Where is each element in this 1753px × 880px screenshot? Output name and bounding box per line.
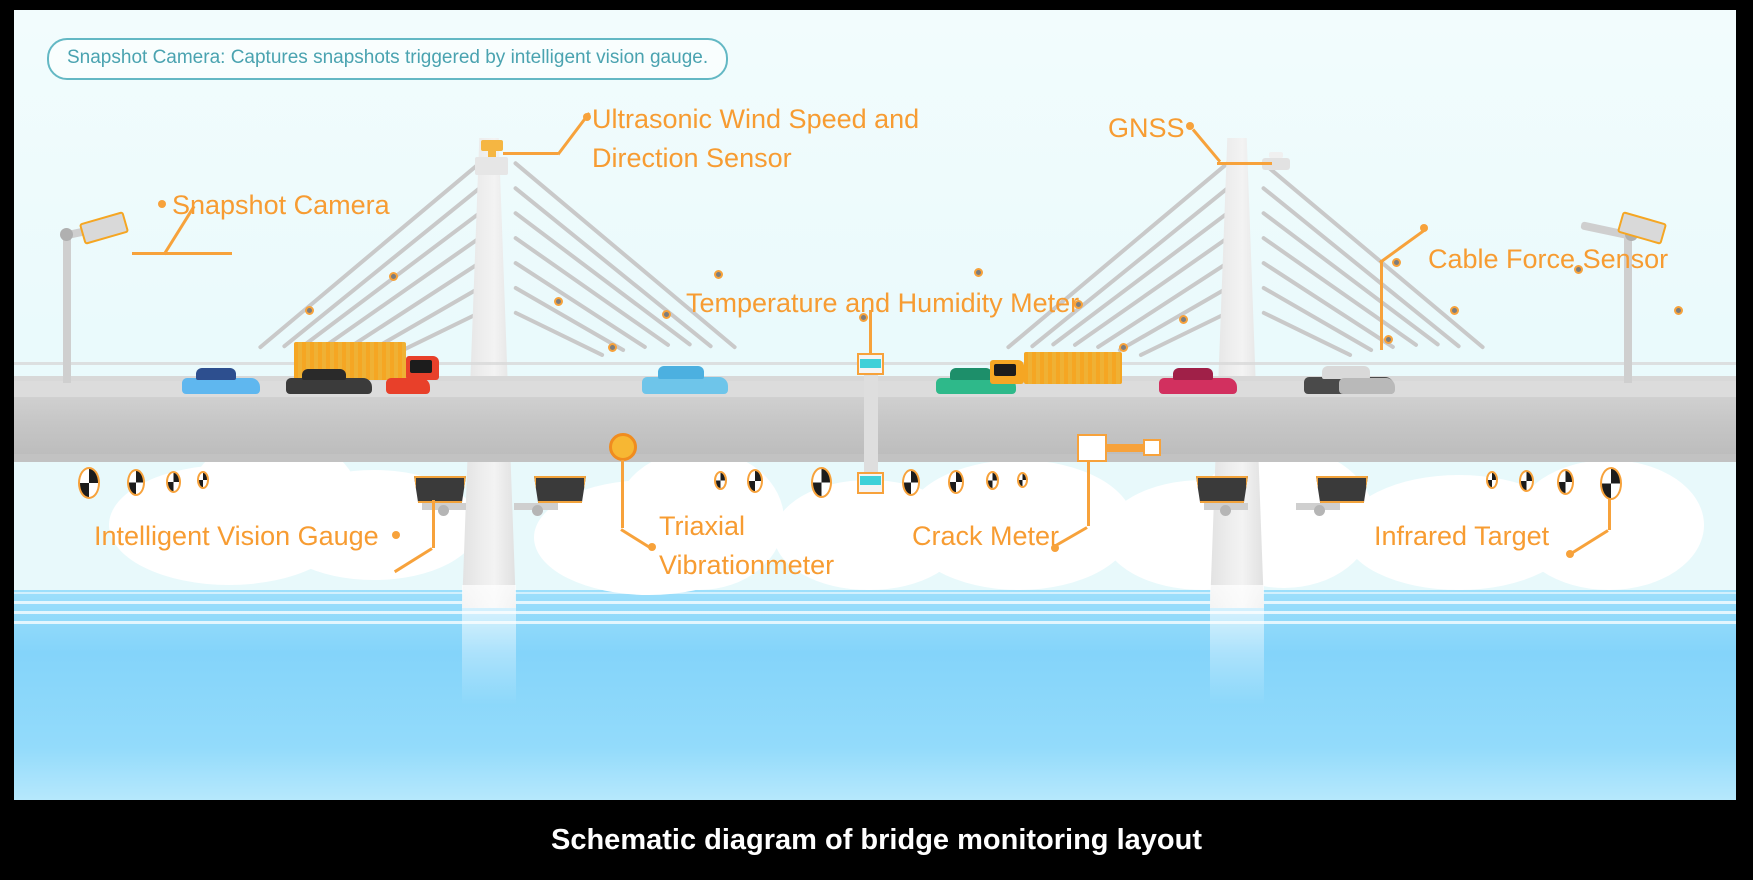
label-vibrationmeter: Triaxial Vibrationmeter xyxy=(659,507,834,585)
vision-gauge-pivot xyxy=(438,505,449,516)
figure-caption-bar: Schematic diagram of bridge monitoring l… xyxy=(0,800,1753,880)
crack-meter-arm xyxy=(1107,444,1143,452)
snapshot-camera-icon[interactable] xyxy=(79,211,129,245)
lamp-knob-left xyxy=(60,228,73,241)
figure-caption-text: Schematic diagram of bridge monitoring l… xyxy=(551,824,1202,857)
cable-force-sensor-dot[interactable] xyxy=(1392,258,1401,267)
wind-sensor-icon[interactable] xyxy=(481,140,503,151)
bridge-scene: Snapshot Camera Ultrasonic Wind Speed an… xyxy=(14,10,1736,800)
vision-gauge-icon[interactable] xyxy=(414,476,466,503)
cable-force-sensor-dot[interactable] xyxy=(1450,306,1459,315)
label-infrared-target: Infrared Target xyxy=(1374,517,1549,556)
label-gnss: GNSS xyxy=(1108,109,1185,148)
cable-force-sensor-dot[interactable] xyxy=(305,306,314,315)
leader-dot-vision-gauge xyxy=(392,531,400,539)
cable-force-sensor-dot[interactable] xyxy=(974,268,983,277)
tooltip-snapshot-camera: Snapshot Camera: Captures snapshots trig… xyxy=(47,38,728,80)
infrared-target-icon[interactable] xyxy=(127,469,145,496)
vision-gauge-pivot xyxy=(1314,505,1325,516)
leader-dot-gnss xyxy=(1186,122,1194,130)
leader-line-vision-gauge xyxy=(432,500,435,548)
temp-humidity-mast xyxy=(864,375,878,472)
leader-dot-vibrationmeter xyxy=(648,543,656,551)
temp-humidity-indicator xyxy=(860,359,881,368)
lamp-pole-left xyxy=(63,238,71,383)
cable-force-sensor-dot[interactable] xyxy=(554,297,563,306)
leader-dot-snapshot-camera xyxy=(158,200,166,208)
infrared-target-icon[interactable] xyxy=(948,470,964,494)
water-line xyxy=(14,611,1736,614)
label-temp-humidity: Temperature and Humidity Meter xyxy=(686,284,1079,323)
water-line xyxy=(14,592,1736,594)
cable-force-sensor-dot[interactable] xyxy=(1384,335,1393,344)
infrared-target-icon[interactable] xyxy=(1557,469,1574,495)
water-line xyxy=(14,621,1736,624)
leader-line-crack-meter xyxy=(1087,462,1090,526)
infrared-target-icon[interactable] xyxy=(166,471,181,493)
infrared-target-icon[interactable] xyxy=(902,469,920,496)
label-snapshot-camera: Snapshot Camera xyxy=(172,186,390,225)
leader-line-infrared-target xyxy=(1608,498,1611,530)
water-line xyxy=(14,601,1736,604)
infrared-target-icon[interactable] xyxy=(1519,470,1534,492)
diagram-page: Snapshot Camera Ultrasonic Wind Speed an… xyxy=(0,0,1753,880)
cable-stay xyxy=(1261,260,1396,349)
crack-meter-anchor xyxy=(1143,439,1161,456)
cable-force-sensor-dot[interactable] xyxy=(389,272,398,281)
infrared-target-icon[interactable] xyxy=(78,467,100,499)
vision-gauge-icon[interactable] xyxy=(1196,476,1248,503)
leader-line-gnss xyxy=(1192,129,1221,163)
leader-line-gnss xyxy=(1217,162,1272,165)
cable-force-sensor-dot[interactable] xyxy=(1674,306,1683,315)
label-wind-sensor: Ultrasonic Wind Speed and Direction Sens… xyxy=(592,100,919,178)
cable-force-sensor-dot[interactable] xyxy=(714,270,723,279)
infrared-target-icon[interactable] xyxy=(714,471,727,490)
leader-line-cable-force xyxy=(1379,227,1428,264)
wind-sensor-base xyxy=(475,157,508,175)
leader-line-cable-force xyxy=(1380,260,1383,350)
label-cable-force: Cable Force Sensor xyxy=(1428,240,1668,279)
infrared-target-icon[interactable] xyxy=(1017,472,1028,488)
cable-stay xyxy=(1095,260,1230,349)
label-vision-gauge: Intelligent Vision Gauge xyxy=(94,517,379,556)
infrared-target-icon[interactable] xyxy=(1486,471,1498,489)
leader-dot-infrared-target xyxy=(1566,550,1574,558)
vision-gauge-pivot xyxy=(1220,505,1231,516)
leader-line-vibrationmeter xyxy=(621,460,624,528)
pylon-right-reflection xyxy=(1210,585,1264,705)
label-crack-meter: Crack Meter xyxy=(912,517,1059,556)
temp-humidity-lower-indicator xyxy=(860,476,881,485)
pylon-right xyxy=(1210,138,1264,608)
cable-stay xyxy=(347,260,482,349)
infrared-target-icon[interactable] xyxy=(1600,467,1622,500)
vision-gauge-pivot xyxy=(532,505,543,516)
vibrationmeter-icon[interactable] xyxy=(609,433,637,461)
pylon-left xyxy=(462,138,516,608)
cable-force-sensor-dot[interactable] xyxy=(1179,315,1188,324)
infrared-target-icon[interactable] xyxy=(197,471,209,489)
leader-dot-cable-force xyxy=(1420,224,1428,232)
leader-line-wind-sensor xyxy=(503,152,558,155)
cable-force-sensor-dot[interactable] xyxy=(1119,343,1128,352)
infrared-target-icon[interactable] xyxy=(747,469,763,493)
infrared-target-icon[interactable] xyxy=(986,471,999,490)
leader-dot-wind-sensor xyxy=(583,113,591,121)
crack-meter-icon[interactable] xyxy=(1077,434,1107,462)
leader-line-snapshot-camera xyxy=(132,252,232,255)
cable-force-sensor-dot[interactable] xyxy=(662,310,671,319)
infrared-target-icon[interactable] xyxy=(811,467,832,498)
vision-gauge-icon[interactable] xyxy=(534,476,586,503)
cable-force-sensor-dot[interactable] xyxy=(608,343,617,352)
pylon-left-reflection xyxy=(462,585,516,705)
vision-gauge-icon[interactable] xyxy=(1316,476,1368,503)
cable-stay xyxy=(513,260,648,349)
